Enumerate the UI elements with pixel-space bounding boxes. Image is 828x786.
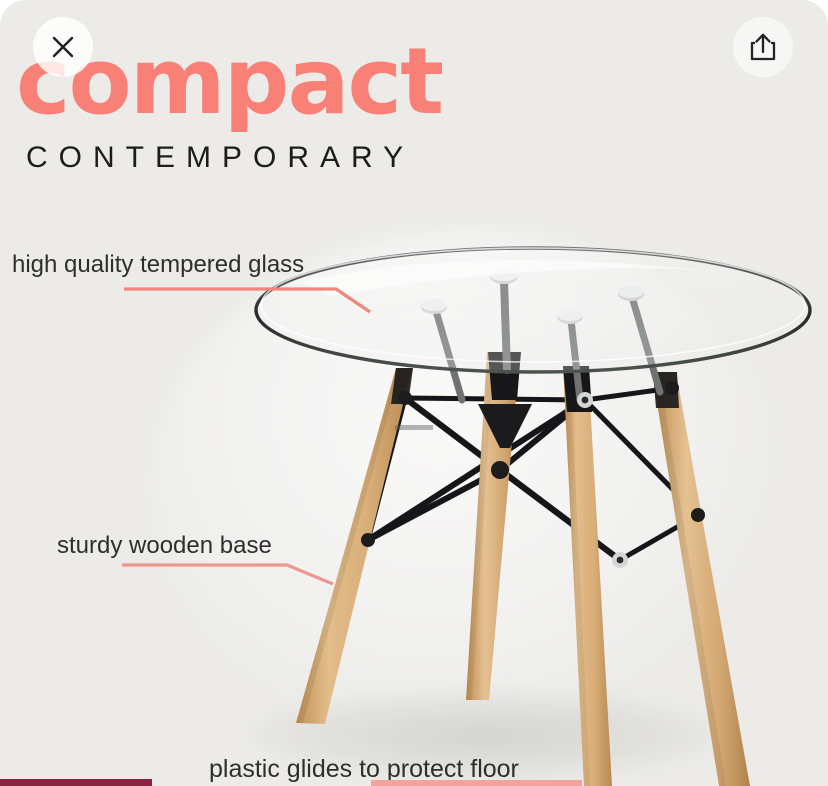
decor-bar-salmon: [371, 780, 582, 786]
annotation-label-base: sturdy wooden base: [57, 532, 272, 560]
share-button[interactable]: [733, 17, 793, 77]
decor-bar-maroon: [0, 779, 152, 786]
share-upload-icon: [749, 32, 777, 62]
brand-tagline: CONTEMPORARY: [26, 141, 442, 175]
close-x-icon: [50, 34, 76, 60]
product-image-viewer: high quality tempered glass sturdy woode…: [0, 0, 828, 786]
close-button[interactable]: [33, 17, 93, 77]
annotation-label-glass: high quality tempered glass: [12, 251, 304, 279]
